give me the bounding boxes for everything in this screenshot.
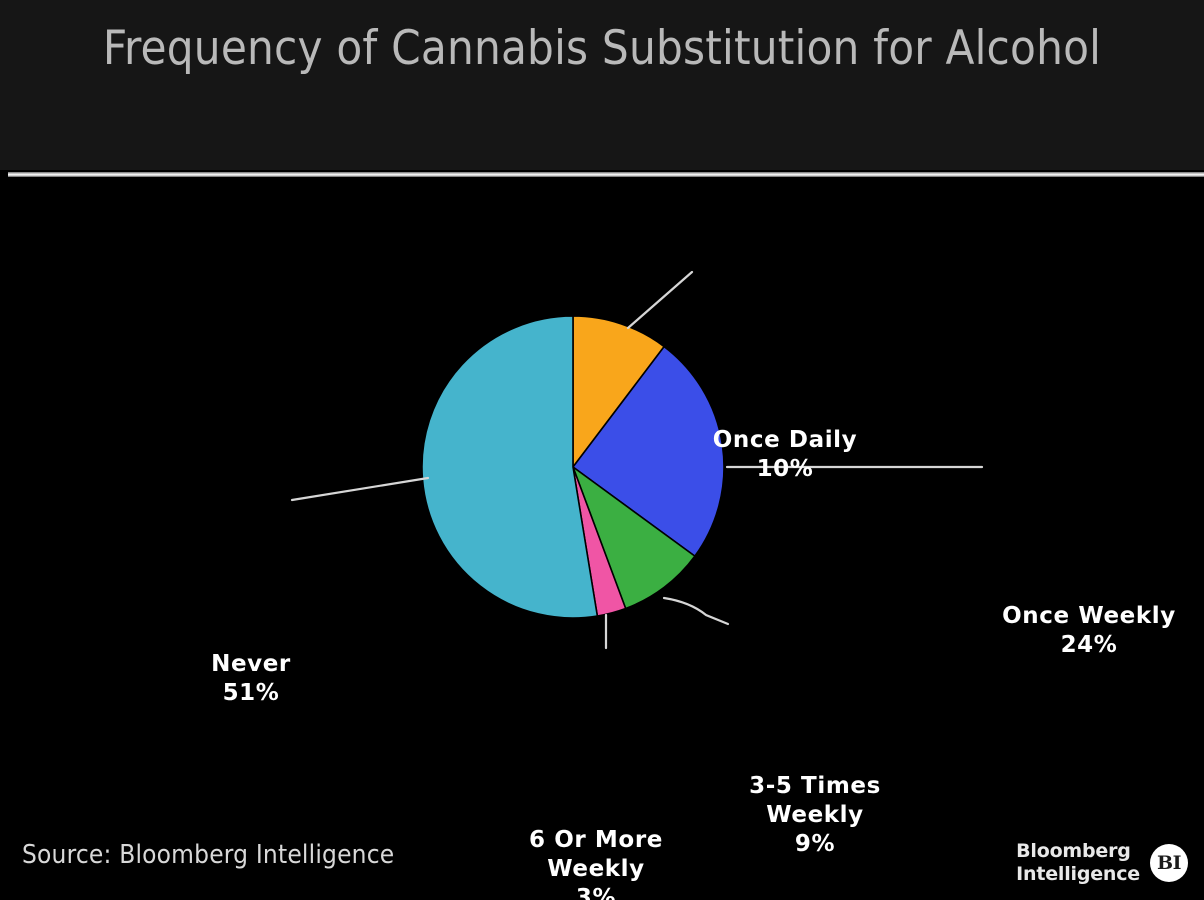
slice-label-six-or-more-weekly: 6 Or More Weekly 3% (498, 826, 694, 900)
plot-area: Once Daily 10% Once Weekly 24% 3-5 Times… (0, 178, 1204, 900)
header-divider (8, 172, 1204, 177)
source-caption: Source: Bloomberg Intelligence (22, 840, 394, 870)
pie-slices (422, 316, 724, 618)
slice-label-once-daily: Once Daily 10% (694, 426, 876, 484)
brand-line-2: Intelligence (1016, 863, 1140, 885)
bi-badge-icon: BI (1150, 844, 1188, 882)
brand-wordmark: BloombergIntelligence (1016, 840, 1140, 886)
pie-slice-never (422, 316, 597, 618)
slice-label-three-five-times-weekly: 3-5 Times Weekly 9% (722, 772, 908, 859)
slice-label-never: Never 51% (186, 650, 316, 708)
chart-header: Frequency of Cannabis Substitution for A… (0, 0, 1204, 170)
brand-line-1: Bloomberg (1016, 840, 1131, 862)
leader-line-never (292, 478, 428, 500)
bloomberg-intelligence-logo: BloombergIntelligence BI (1016, 840, 1188, 886)
leader-line-once-daily (628, 272, 692, 328)
page-title: Frequency of Cannabis Substitution for A… (60, 16, 1144, 83)
leader-line-three-five (664, 598, 728, 624)
chart-page: Frequency of Cannabis Substitution for A… (0, 0, 1204, 900)
pie-chart (0, 178, 1204, 900)
slice-label-once-weekly: Once Weekly 24% (986, 602, 1192, 660)
